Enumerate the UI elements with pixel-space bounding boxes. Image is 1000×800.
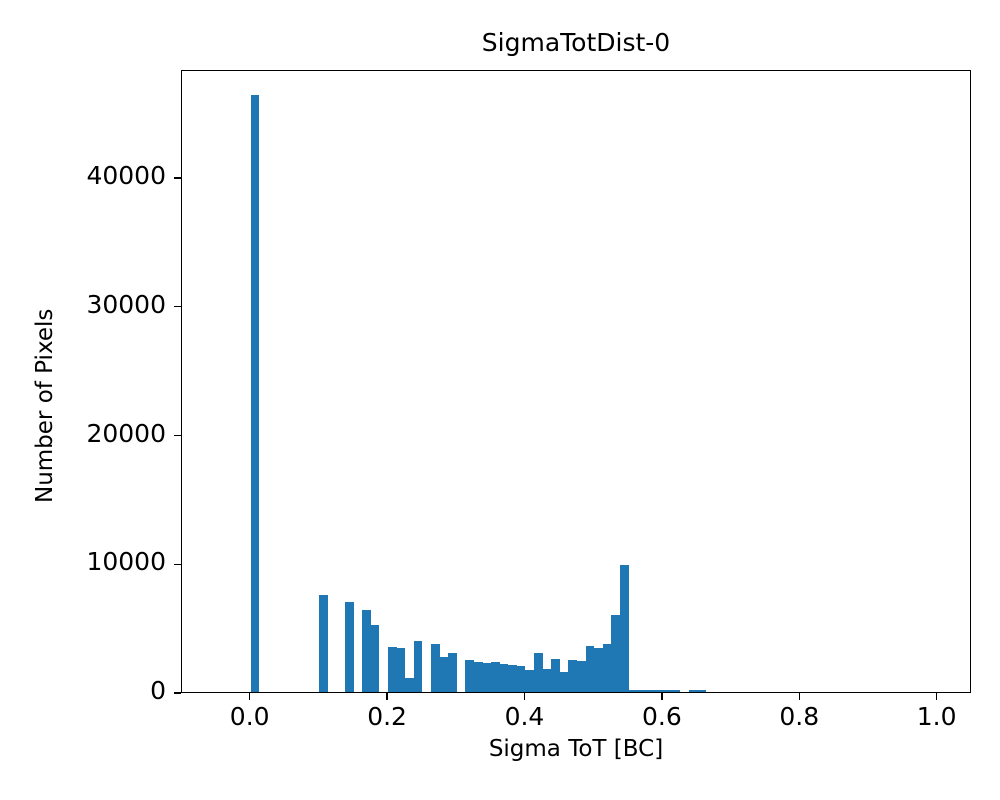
histogram-bars xyxy=(182,71,970,692)
histogram-bar xyxy=(560,672,569,692)
histogram-bar xyxy=(362,610,371,692)
x-tick-label: 0.0 xyxy=(200,702,300,731)
y-tick-mark xyxy=(174,435,181,436)
histogram-bar xyxy=(551,659,560,692)
histogram-bar xyxy=(517,666,526,692)
histogram-bar xyxy=(508,665,517,692)
x-tick-mark xyxy=(386,693,387,700)
histogram-bar xyxy=(689,690,698,692)
histogram-bar xyxy=(611,615,620,692)
histogram-bar xyxy=(491,662,500,692)
x-tick-mark xyxy=(799,693,800,700)
y-axis-label: Number of Pixels xyxy=(32,309,58,503)
figure-canvas: SigmaTotDist-0 010000200003000040000 0.0… xyxy=(0,0,1000,800)
histogram-bar xyxy=(663,690,672,692)
histogram-bar xyxy=(474,662,483,692)
x-tick-mark xyxy=(524,693,525,700)
histogram-bar xyxy=(671,690,680,692)
y-tick-mark xyxy=(174,177,181,178)
x-tick-label: 0.6 xyxy=(612,702,712,731)
x-tick-mark xyxy=(249,693,250,700)
histogram-bar xyxy=(397,648,406,692)
histogram-bar xyxy=(465,660,474,692)
y-tick-mark xyxy=(174,564,181,565)
histogram-bar xyxy=(629,690,638,692)
histogram-bar xyxy=(500,664,509,692)
histogram-bar xyxy=(568,660,577,692)
histogram-bar xyxy=(345,602,354,692)
histogram-bar xyxy=(543,669,552,692)
histogram-bar xyxy=(251,95,260,692)
x-tick-label: 0.4 xyxy=(474,702,574,731)
histogram-bar xyxy=(483,663,492,692)
histogram-bar xyxy=(603,644,612,692)
x-tick-label: 0.2 xyxy=(337,702,437,731)
x-axis-label: Sigma ToT [BC] xyxy=(181,736,971,762)
x-tick-mark xyxy=(936,693,937,700)
chart-title: SigmaTotDist-0 xyxy=(181,28,971,58)
histogram-bar xyxy=(319,595,328,692)
y-tick-mark xyxy=(174,306,181,307)
histogram-bar xyxy=(431,644,440,692)
histogram-bar xyxy=(637,690,646,692)
histogram-bar xyxy=(577,661,586,692)
y-tick-label: 30000 xyxy=(0,290,166,319)
y-tick-label: 40000 xyxy=(0,161,166,190)
histogram-bar xyxy=(371,625,380,692)
histogram-bar xyxy=(620,565,629,692)
histogram-bar xyxy=(594,648,603,692)
histogram-bar xyxy=(525,670,534,692)
histogram-bar xyxy=(586,646,595,692)
y-tick-label: 10000 xyxy=(0,547,166,576)
plot-area xyxy=(181,70,971,693)
histogram-bar xyxy=(646,690,655,692)
y-tick-label: 0 xyxy=(0,676,166,705)
histogram-bar xyxy=(534,653,543,692)
y-tick-label: 20000 xyxy=(0,419,166,448)
histogram-bar xyxy=(405,678,414,692)
y-tick-mark xyxy=(174,692,181,693)
histogram-bar xyxy=(414,641,423,692)
x-tick-label: 0.8 xyxy=(749,702,849,731)
x-tick-label: 1.0 xyxy=(887,702,987,731)
histogram-bar xyxy=(388,647,397,692)
histogram-bar xyxy=(448,653,457,692)
histogram-bar xyxy=(697,690,706,692)
x-tick-mark xyxy=(661,693,662,700)
histogram-bar xyxy=(654,690,663,692)
histogram-bar xyxy=(440,657,449,692)
